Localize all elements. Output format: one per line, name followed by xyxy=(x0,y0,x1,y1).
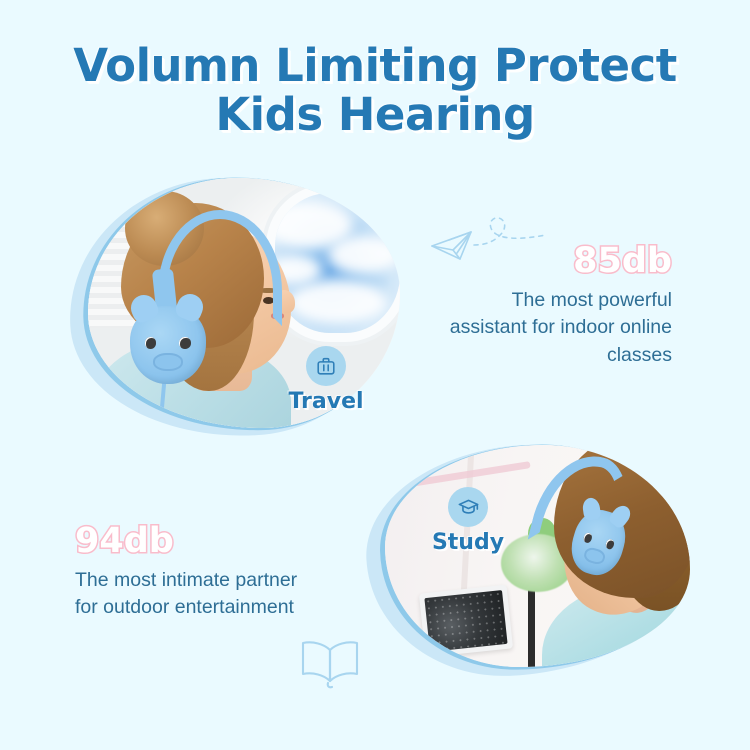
title-line-2: Kids Hearing xyxy=(0,91,750,140)
travel-badge-label: Travel xyxy=(266,389,386,414)
child-model-study xyxy=(507,445,690,667)
open-book-icon xyxy=(303,642,357,687)
title-line-1: Volumn Limiting Protect xyxy=(0,42,750,91)
travel-badge: Travel xyxy=(266,346,386,414)
graduation-cap-icon xyxy=(448,487,488,527)
study-badge-label: Study xyxy=(408,530,528,555)
page-title: Volumn Limiting Protect Kids Hearing xyxy=(0,42,750,139)
feature-85db-description: The most powerful assistant for indoor o… xyxy=(432,287,672,370)
feature-94db: 94db The most intimate partner for outdo… xyxy=(75,522,305,622)
headphone-earcup xyxy=(130,306,206,384)
open-book-decoration xyxy=(297,637,363,698)
feature-94db-value: 94db xyxy=(75,522,305,561)
study-photo: Study xyxy=(385,445,690,667)
paper-plane-decoration xyxy=(424,212,559,287)
study-badge: Study xyxy=(408,487,528,555)
suitcase-icon xyxy=(306,346,346,386)
study-photo-image xyxy=(385,445,690,667)
travel-photo: Travel xyxy=(88,178,400,428)
feature-94db-description: The most intimate partner for outdoor en… xyxy=(75,567,305,622)
paper-plane-icon xyxy=(432,232,471,259)
dotted-trail xyxy=(474,218,546,245)
product-feature-poster: Volumn Limiting Protect Kids Hearing xyxy=(0,0,750,750)
tablet-device xyxy=(418,585,513,658)
